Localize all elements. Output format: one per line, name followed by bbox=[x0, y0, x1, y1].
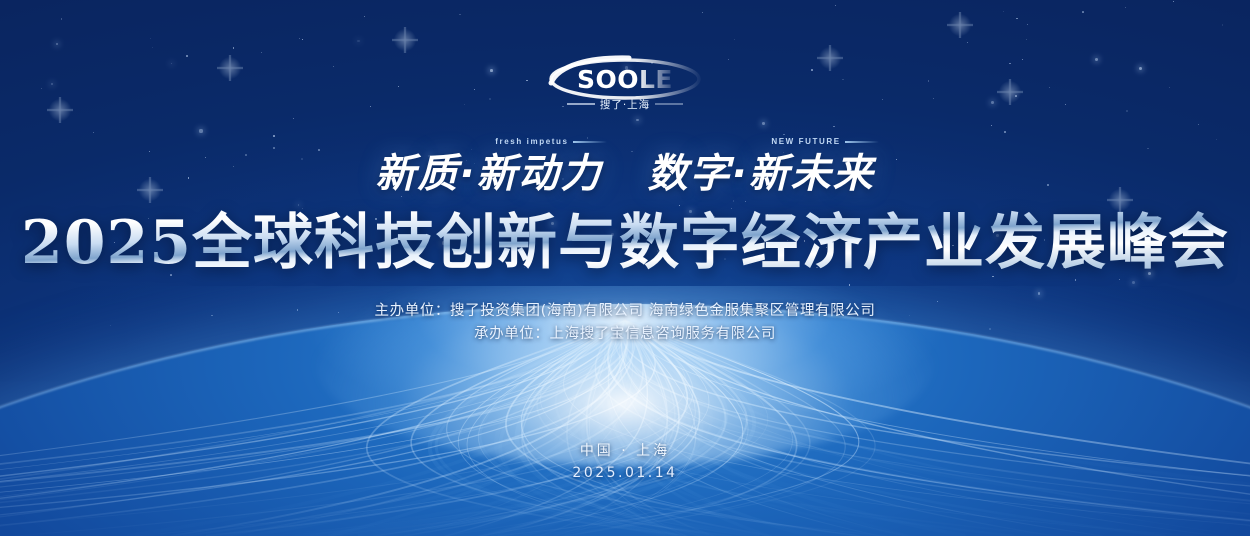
star-particle bbox=[1082, 11, 1084, 13]
slogan-left-group: 新质·新动力 fresh impetus bbox=[375, 150, 602, 198]
star-particle bbox=[199, 129, 202, 132]
star-particle bbox=[56, 43, 58, 45]
star-particle bbox=[273, 135, 275, 137]
star-particle bbox=[762, 122, 765, 125]
star-particle bbox=[991, 125, 992, 126]
slogan-row: 新质·新动力 fresh impetus 数字·新未来 NEW FUTURE bbox=[0, 150, 1250, 198]
star-particle bbox=[1049, 87, 1050, 88]
slogan-right-eyebrow-text: NEW FUTURE bbox=[771, 137, 840, 146]
slogan-left-eyebrow-text: fresh impetus bbox=[495, 137, 568, 146]
sparkle-icon bbox=[817, 45, 843, 71]
star-particle bbox=[833, 126, 834, 127]
star-particle bbox=[51, 83, 53, 85]
star-particle bbox=[61, 18, 62, 19]
star-particle bbox=[370, 106, 371, 107]
star-particle bbox=[152, 47, 153, 48]
star-particle bbox=[1015, 95, 1017, 97]
star-particle bbox=[364, 16, 366, 18]
star-particle bbox=[464, 104, 465, 105]
star-particle bbox=[1139, 67, 1142, 70]
star-particle bbox=[299, 38, 300, 39]
sparkle-icon bbox=[997, 79, 1023, 105]
star-particle bbox=[298, 204, 300, 206]
star-particle bbox=[1169, 87, 1170, 88]
star-particle bbox=[474, 89, 475, 90]
host-line: 主办单位：搜了投资集团(海南)有限公司 海南绿色金服集聚区管理有限公司 bbox=[0, 300, 1250, 323]
star-particle bbox=[261, 52, 262, 53]
page-title: 2025全球科技创新与数字经济产业发展峰会 bbox=[0, 207, 1250, 279]
star-particle bbox=[489, 98, 491, 100]
star-particle bbox=[1119, 279, 1120, 280]
slogan-right-group: 数字·新未来 NEW FUTURE bbox=[647, 150, 874, 198]
star-particle bbox=[171, 63, 173, 65]
conference-banner: SOOLE 搜了·上海 新质·新动力 fresh impetus 数字·新未来 … bbox=[0, 0, 1250, 536]
star-particle bbox=[1016, 18, 1018, 20]
star-particle bbox=[882, 99, 883, 100]
slogan-left-text: 新质·新动力 bbox=[375, 151, 602, 197]
sparkle-icon bbox=[392, 27, 418, 53]
slogan-right-eyebrow: NEW FUTURE bbox=[771, 137, 878, 146]
star-particle bbox=[93, 132, 94, 133]
star-particle bbox=[1095, 58, 1098, 61]
sparkle-icon bbox=[217, 55, 243, 81]
star-particle bbox=[1022, 59, 1023, 60]
star-particle bbox=[1026, 39, 1027, 40]
star-particle bbox=[41, 88, 42, 89]
star-particle bbox=[1132, 281, 1135, 284]
star-particle bbox=[302, 39, 303, 40]
star-particle bbox=[842, 79, 844, 81]
star-particle bbox=[1216, 139, 1217, 140]
star-particle bbox=[702, 12, 703, 13]
star-particle bbox=[1126, 110, 1128, 112]
star-particle bbox=[1075, 279, 1077, 281]
star-particle bbox=[991, 101, 994, 104]
star-particle bbox=[835, 5, 836, 6]
star-particle bbox=[1027, 24, 1029, 26]
footer-location: 中国 · 上海 bbox=[0, 440, 1250, 462]
star-particle bbox=[293, 118, 295, 120]
star-particle bbox=[933, 98, 934, 99]
star-particle bbox=[273, 147, 275, 149]
star-particle bbox=[1065, 104, 1066, 105]
star-particle bbox=[967, 42, 968, 43]
slogan-right-text: 数字·新未来 bbox=[647, 151, 874, 197]
star-particle bbox=[526, 80, 527, 81]
organizers-block: 主办单位：搜了投资集团(海南)有限公司 海南绿色金服集聚区管理有限公司 承办单位… bbox=[0, 300, 1250, 346]
footer-block: 中国 · 上海 2025.01.14 bbox=[0, 440, 1250, 484]
star-particle bbox=[811, 69, 813, 71]
star-particle bbox=[357, 40, 360, 43]
footer-date: 2025.01.14 bbox=[0, 462, 1250, 484]
slogan-left-eyebrow: fresh impetus bbox=[495, 137, 606, 146]
soole-logo: SOOLE 搜了·上海 bbox=[533, 53, 717, 115]
eyebrow-bar-left bbox=[573, 141, 607, 143]
star-particle bbox=[1125, 7, 1126, 8]
star-particle bbox=[1198, 124, 1199, 125]
star-particle bbox=[1009, 63, 1011, 65]
star-particle bbox=[333, 66, 334, 67]
star-particle bbox=[398, 86, 399, 87]
logo-wordmark: SOOLE bbox=[577, 65, 673, 94]
logo-subtitle: 搜了·上海 bbox=[600, 98, 650, 111]
sparkle-icon bbox=[47, 97, 73, 123]
star-particle bbox=[186, 55, 188, 57]
star-particle bbox=[679, 205, 680, 206]
star-particle bbox=[1173, 1, 1174, 2]
star-particle bbox=[1003, 11, 1004, 12]
star-particle bbox=[459, 14, 460, 15]
star-particle bbox=[150, 38, 151, 39]
star-particle bbox=[745, 201, 746, 202]
star-particle bbox=[734, 39, 735, 40]
star-particle bbox=[733, 200, 735, 202]
star-particle bbox=[783, 134, 785, 136]
star-particle bbox=[728, 59, 729, 60]
star-particle bbox=[1004, 131, 1006, 133]
organizer-line: 承办单位：上海搜了宝信息咨询服务有限公司 bbox=[0, 323, 1250, 346]
star-particle bbox=[233, 47, 235, 49]
sparkle-icon bbox=[947, 12, 973, 38]
star-particle bbox=[928, 80, 930, 82]
star-particle bbox=[1222, 24, 1224, 26]
star-particle bbox=[490, 69, 493, 72]
star-particle bbox=[636, 119, 638, 121]
page-title-text: 2025全球科技创新与数字经济产业发展峰会 bbox=[21, 208, 1229, 278]
eyebrow-bar-right bbox=[845, 141, 879, 143]
